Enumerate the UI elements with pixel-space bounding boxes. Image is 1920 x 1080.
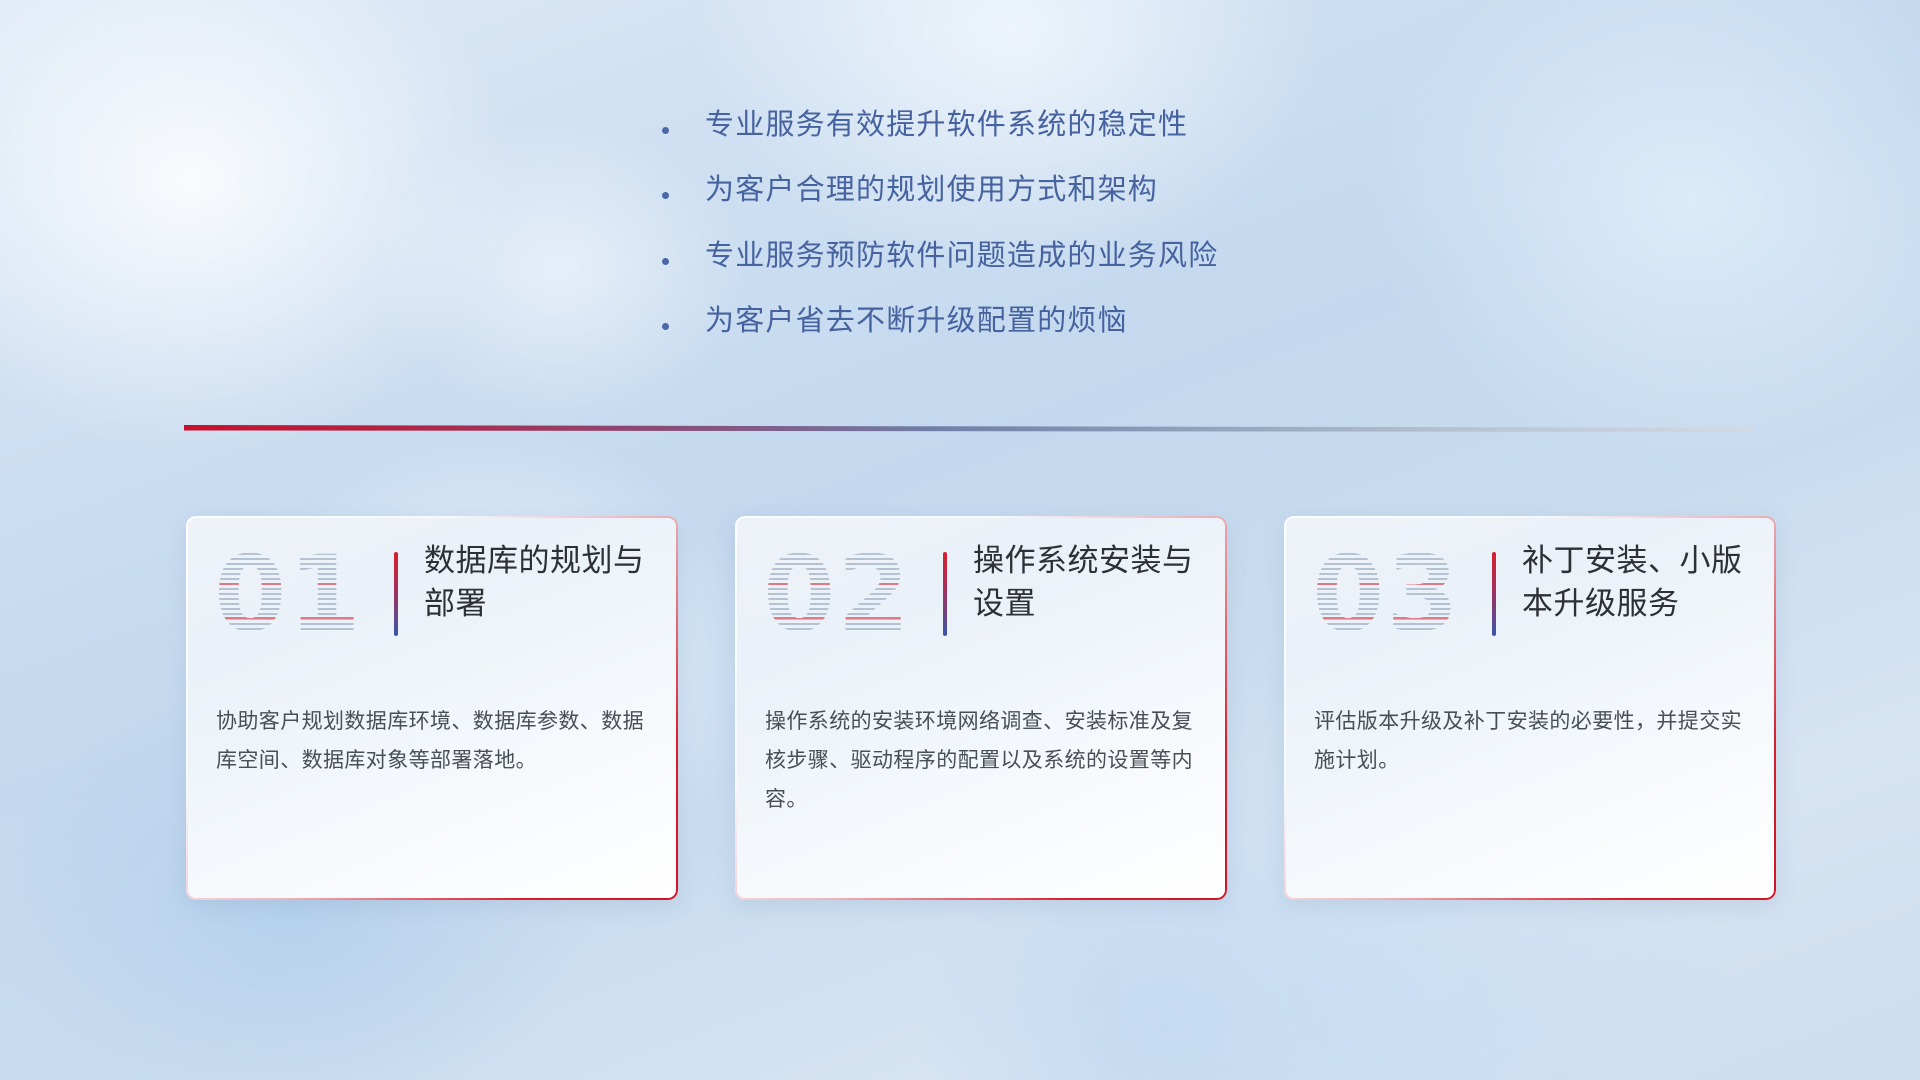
- bullet-dot-icon: [662, 258, 669, 265]
- card-number-watermark-accent: 02: [763, 538, 913, 650]
- bullet-dot-icon: [662, 323, 669, 330]
- service-card[interactable]: 01 01 数据库的规划与部署 协助客户规划数据库环境、数据库参数、数据库空间、…: [186, 516, 678, 900]
- slide-root: 专业服务有效提升软件系统的稳定性 为客户合理的规划使用方式和架构 专业服务预防软…: [0, 0, 1920, 1080]
- bullet-item: 为客户省去不断升级配置的烦恼: [662, 304, 1562, 339]
- bullet-item: 专业服务预防软件问题造成的业务风险: [662, 239, 1562, 274]
- card-number-watermark-accent: 01: [214, 538, 364, 650]
- card-title: 数据库的规划与部署: [424, 540, 660, 626]
- service-card[interactable]: 02 02 操作系统安装与设置 操作系统的安装环境网络调查、安装标准及复核步骤、…: [735, 516, 1227, 900]
- card-accent-bar: [394, 552, 398, 636]
- bullet-item: 专业服务有效提升软件系统的稳定性: [662, 108, 1562, 143]
- section-divider: [184, 425, 1754, 435]
- bullet-text: 专业服务有效提升软件系统的稳定性: [705, 108, 1188, 143]
- service-card[interactable]: 03 03 补丁安装、小版本升级服务 评估版本升级及补丁安装的必要性，并提交实施…: [1284, 516, 1776, 900]
- divider-gradient-line: [184, 425, 1754, 432]
- card-header: 03 03 补丁安装、小版本升级服务: [1284, 516, 1776, 694]
- card-body-text: 操作系统的安装环境网络调查、安装标准及复核步骤、驱动程序的配置以及系统的设置等内…: [765, 702, 1197, 819]
- benefits-bullet-list: 专业服务有效提升软件系统的稳定性 为客户合理的规划使用方式和架构 专业服务预防软…: [662, 108, 1562, 370]
- service-card-group: 01 01 数据库的规划与部署 协助客户规划数据库环境、数据库参数、数据库空间、…: [186, 516, 1746, 920]
- bullet-dot-icon: [662, 192, 669, 199]
- card-title: 操作系统安装与设置: [973, 540, 1209, 626]
- bullet-text: 专业服务预防软件问题造成的业务风险: [705, 239, 1218, 274]
- bullet-dot-icon: [662, 127, 669, 134]
- card-number-watermark-accent: 03: [1312, 538, 1462, 650]
- card-body-text: 协助客户规划数据库环境、数据库参数、数据库空间、数据库对象等部署落地。: [216, 702, 648, 780]
- bullet-item: 为客户合理的规划使用方式和架构: [662, 173, 1562, 208]
- card-header: 02 02 操作系统安装与设置: [735, 516, 1227, 694]
- card-title: 补丁安装、小版本升级服务: [1522, 540, 1758, 626]
- card-accent-bar: [943, 552, 947, 636]
- card-body-text: 评估版本升级及补丁安装的必要性，并提交实施计划。: [1314, 702, 1746, 780]
- card-header: 01 01 数据库的规划与部署: [186, 516, 678, 694]
- bullet-text: 为客户省去不断升级配置的烦恼: [705, 304, 1128, 339]
- bullet-text: 为客户合理的规划使用方式和架构: [705, 173, 1158, 208]
- card-accent-bar: [1492, 552, 1496, 636]
